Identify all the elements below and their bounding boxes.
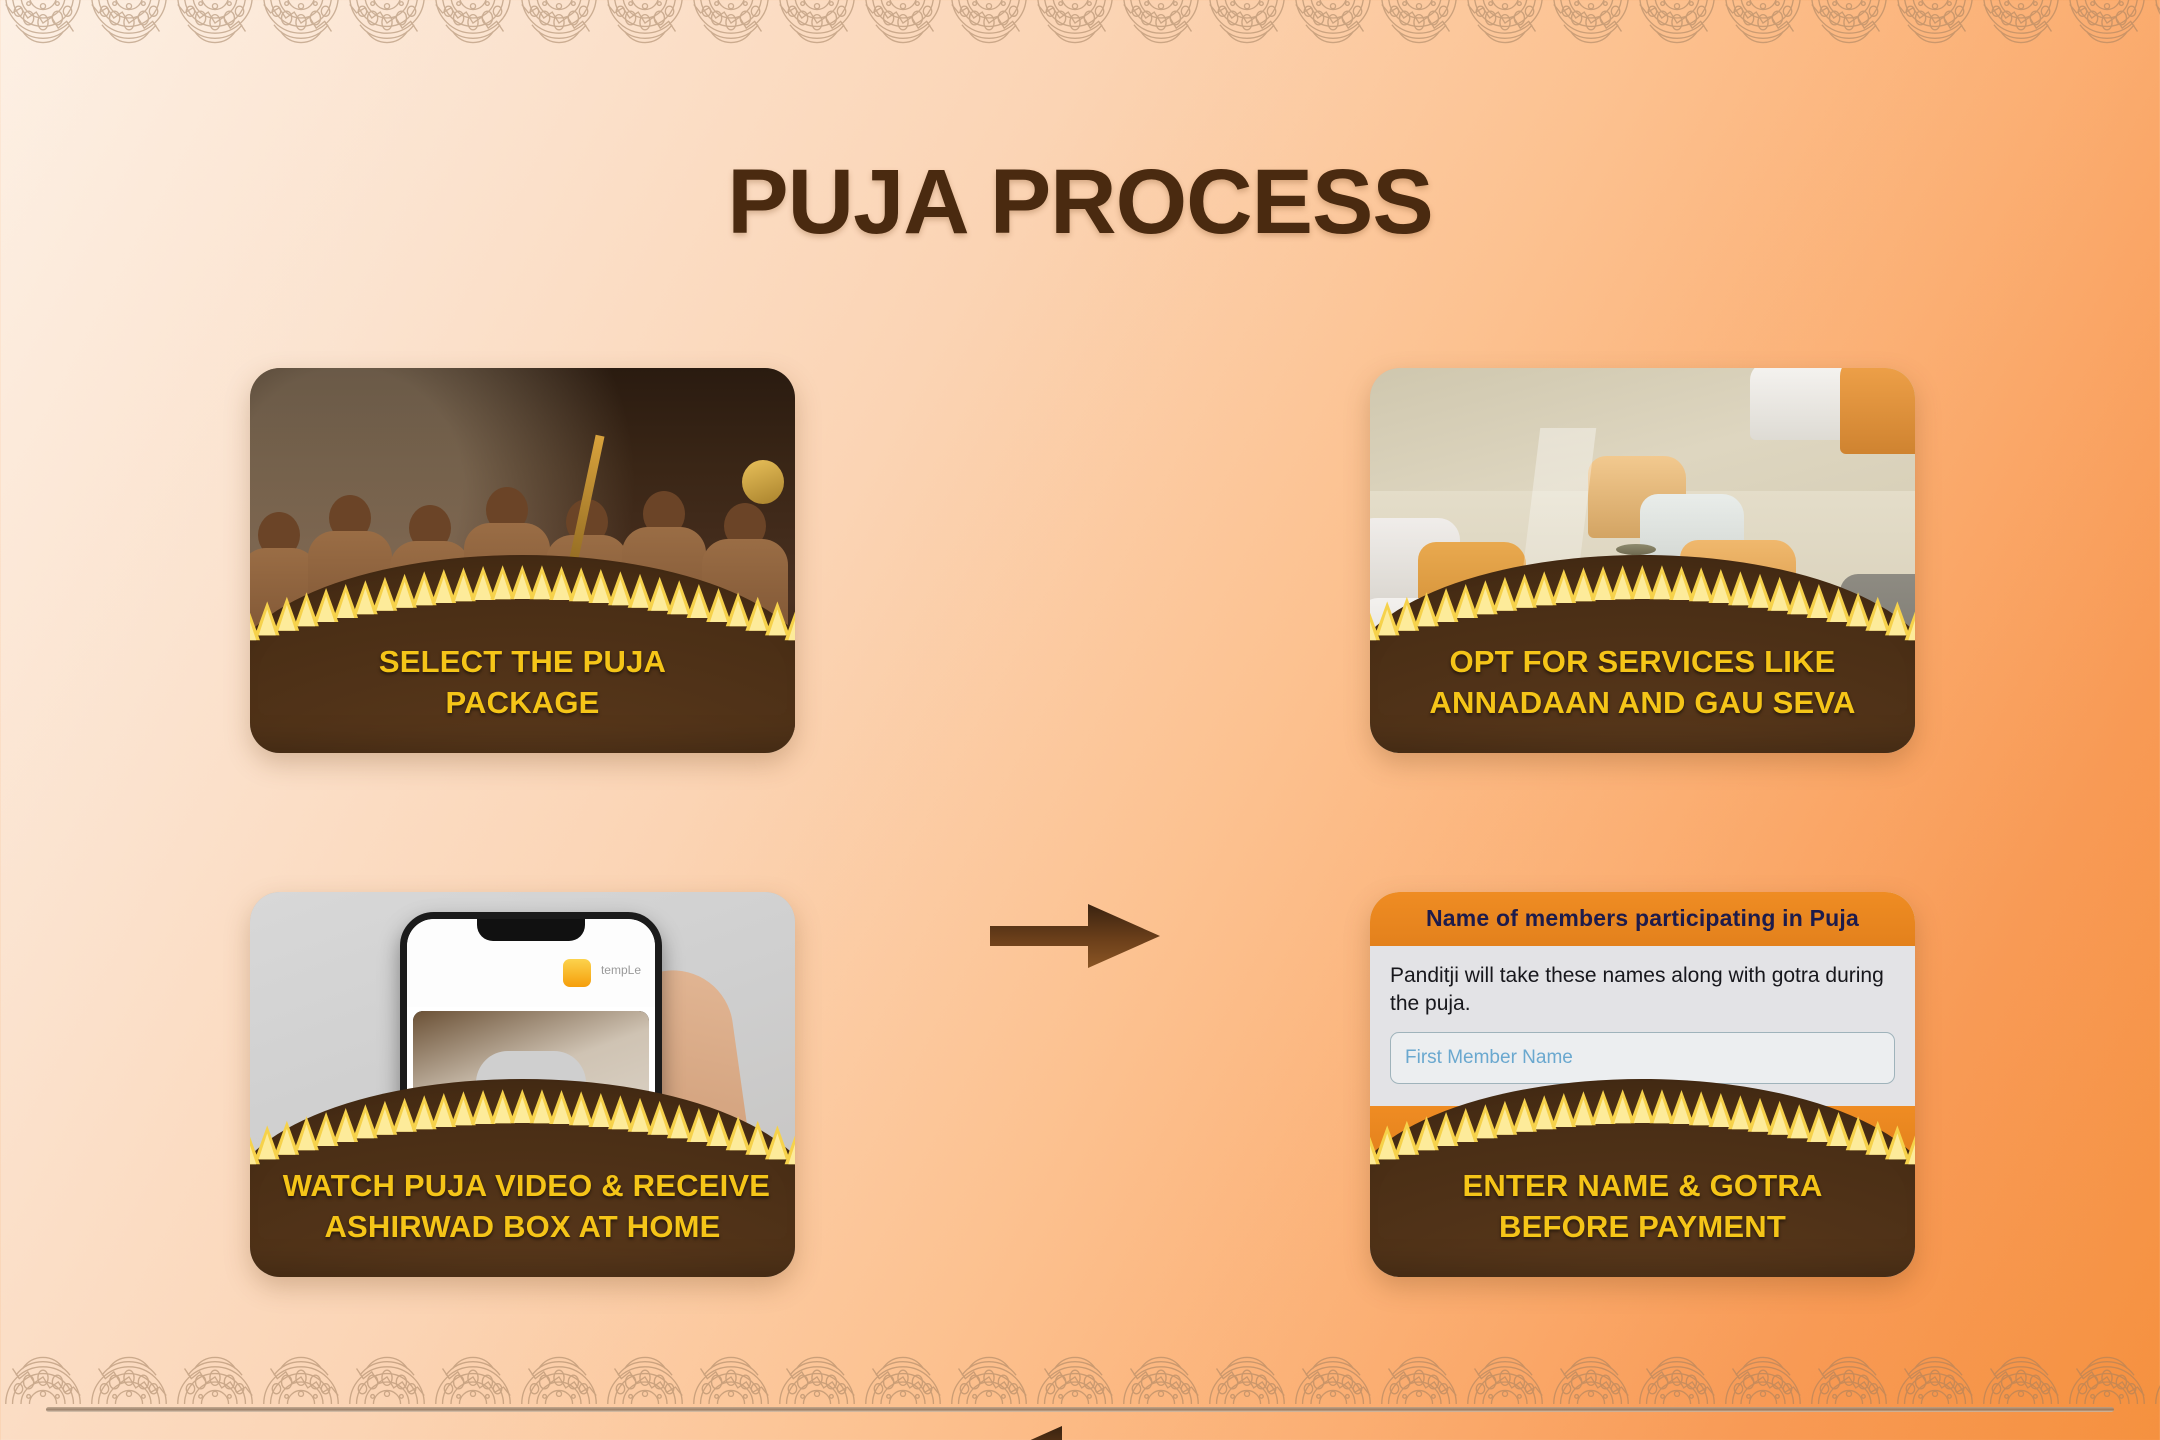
step-card-watch-video-ashirwad-box[interactable]: tempLe xyxy=(250,892,795,1277)
phone-notch xyxy=(477,919,585,941)
first-member-name-input[interactable]: First Member Name xyxy=(1390,1032,1895,1084)
mandala-motif-icon xyxy=(1892,1338,1978,1404)
mandala-motif-icon xyxy=(0,1338,86,1404)
mandala-motif-icon xyxy=(1978,0,2064,62)
step-2-caption: OPT FOR SERVICES LIKE ANNADAAN AND GAU S… xyxy=(1403,641,1883,723)
mandala-motif-icon xyxy=(0,0,86,62)
step-2-petal-trim xyxy=(1370,555,1915,651)
step-1-caption-line-1: SELECT THE PUJA xyxy=(283,641,763,682)
mandala-motif-icon xyxy=(946,1338,1032,1404)
step-4-caption-line-1: WATCH PUJA VIDEO & RECEIVE xyxy=(283,1165,763,1206)
page-title: PUJA PROCESS xyxy=(0,150,2160,255)
step-card-enter-name-gotra[interactable]: Name of members participating in Puja Pa… xyxy=(1370,892,1915,1277)
mandala-motif-icon xyxy=(258,1338,344,1404)
mandala-motif-icon xyxy=(1978,1338,2064,1404)
step-2-caption-line-2: ANNADAAN AND GAU SEVA xyxy=(1403,682,1883,723)
mandala-motif-icon xyxy=(258,0,344,62)
mandala-motif-icon xyxy=(1376,1338,1462,1404)
mandala-motif-icon xyxy=(1462,0,1548,62)
mandala-motif-icon xyxy=(1634,1338,1720,1404)
mandala-motif-icon xyxy=(1118,0,1204,62)
mandala-motif-icon xyxy=(602,0,688,62)
step-3-caption-line-1: ENTER NAME & GOTRA xyxy=(1403,1165,1883,1206)
step-2-caption-line-1: OPT FOR SERVICES LIKE xyxy=(1403,641,1883,682)
app-logo-icon xyxy=(563,959,591,987)
mandala-motif-icon xyxy=(1032,1338,1118,1404)
form-members-note: Panditji will take these names along wit… xyxy=(1390,962,1895,1019)
mandala-motif-icon xyxy=(86,0,172,62)
mandala-motif-icon xyxy=(860,1338,946,1404)
mandala-motif-icon xyxy=(1204,1338,1290,1404)
mandala-motif-icon xyxy=(774,0,860,62)
mandala-motif-icon xyxy=(1720,0,1806,62)
bottom-decorative-border xyxy=(0,1332,2160,1404)
app-name-label: tempLe xyxy=(601,963,641,977)
mandala-motif-icon xyxy=(1548,0,1634,62)
mandala-motif-icon xyxy=(2150,0,2160,62)
mandala-motif-icon xyxy=(430,1338,516,1404)
step-4-caption-line-2: ASHIRWAD BOX AT HOME xyxy=(283,1206,763,1247)
mandala-motif-icon xyxy=(172,0,258,62)
step-1-caption-line-2: PACKAGE xyxy=(283,682,763,723)
step-4-petal-trim xyxy=(250,1079,795,1175)
mandala-motif-icon xyxy=(1204,0,1290,62)
step-card-select-puja-package[interactable]: SELECT THE PUJA PACKAGE xyxy=(250,368,795,753)
mandala-motif-icon xyxy=(344,1338,430,1404)
step-3-caption-line-2: BEFORE PAYMENT xyxy=(1403,1206,1883,1247)
mandala-motif-icon xyxy=(1118,1338,1204,1404)
mandala-motif-icon xyxy=(688,0,774,62)
mandala-motif-icon xyxy=(1806,1338,1892,1404)
step-4-caption: WATCH PUJA VIDEO & RECEIVE ASHIRWAD BOX … xyxy=(283,1165,763,1247)
mandala-motif-icon xyxy=(2064,1338,2150,1404)
form-section-members-header: Name of members participating in Puja xyxy=(1370,892,1915,946)
step-3-caption: ENTER NAME & GOTRA BEFORE PAYMENT xyxy=(1403,1165,1883,1247)
step-3-petal-trim xyxy=(1370,1079,1915,1175)
mandala-motif-icon xyxy=(86,1338,172,1404)
puja-process-flow: SELECT THE PUJA PACKAGE xyxy=(0,360,2160,1290)
step-card-opt-for-services[interactable]: OPT FOR SERVICES LIKE ANNADAAN AND GAU S… xyxy=(1370,368,1915,753)
mandala-motif-icon xyxy=(516,1338,602,1404)
step-1-caption: SELECT THE PUJA PACKAGE xyxy=(283,641,763,723)
mandala-motif-icon xyxy=(602,1338,688,1404)
mandala-motif-icon xyxy=(1290,0,1376,62)
mandala-motif-icon xyxy=(430,0,516,62)
mandala-motif-icon xyxy=(1462,1338,1548,1404)
mandala-motif-icon xyxy=(2064,0,2150,62)
mandala-motif-icon xyxy=(774,1338,860,1404)
mandala-motif-icon xyxy=(1548,1338,1634,1404)
mandala-motif-icon xyxy=(1892,0,1978,62)
mandala-motif-icon xyxy=(1634,0,1720,62)
mandala-motif-icon xyxy=(860,0,946,62)
arrow-right-step1-to-step2 xyxy=(990,900,1160,972)
mandala-motif-icon xyxy=(688,1338,774,1404)
mandala-motif-icon xyxy=(1376,0,1462,62)
mandala-motif-icon xyxy=(1720,1338,1806,1404)
mandala-motif-icon xyxy=(172,1338,258,1404)
mandala-motif-icon xyxy=(2150,1338,2160,1404)
mandala-motif-icon xyxy=(1290,1338,1376,1404)
mandala-motif-icon xyxy=(1032,0,1118,62)
mandala-motif-icon xyxy=(516,0,602,62)
mandala-motif-icon xyxy=(946,0,1032,62)
arrow-left-step3-to-step4 xyxy=(990,1422,1160,1440)
mandala-motif-icon xyxy=(1806,0,1892,62)
top-decorative-border xyxy=(0,0,2160,68)
step-1-petal-trim xyxy=(250,555,795,651)
mandala-motif-icon xyxy=(344,0,430,62)
bottom-rule-divider xyxy=(46,1407,2114,1412)
